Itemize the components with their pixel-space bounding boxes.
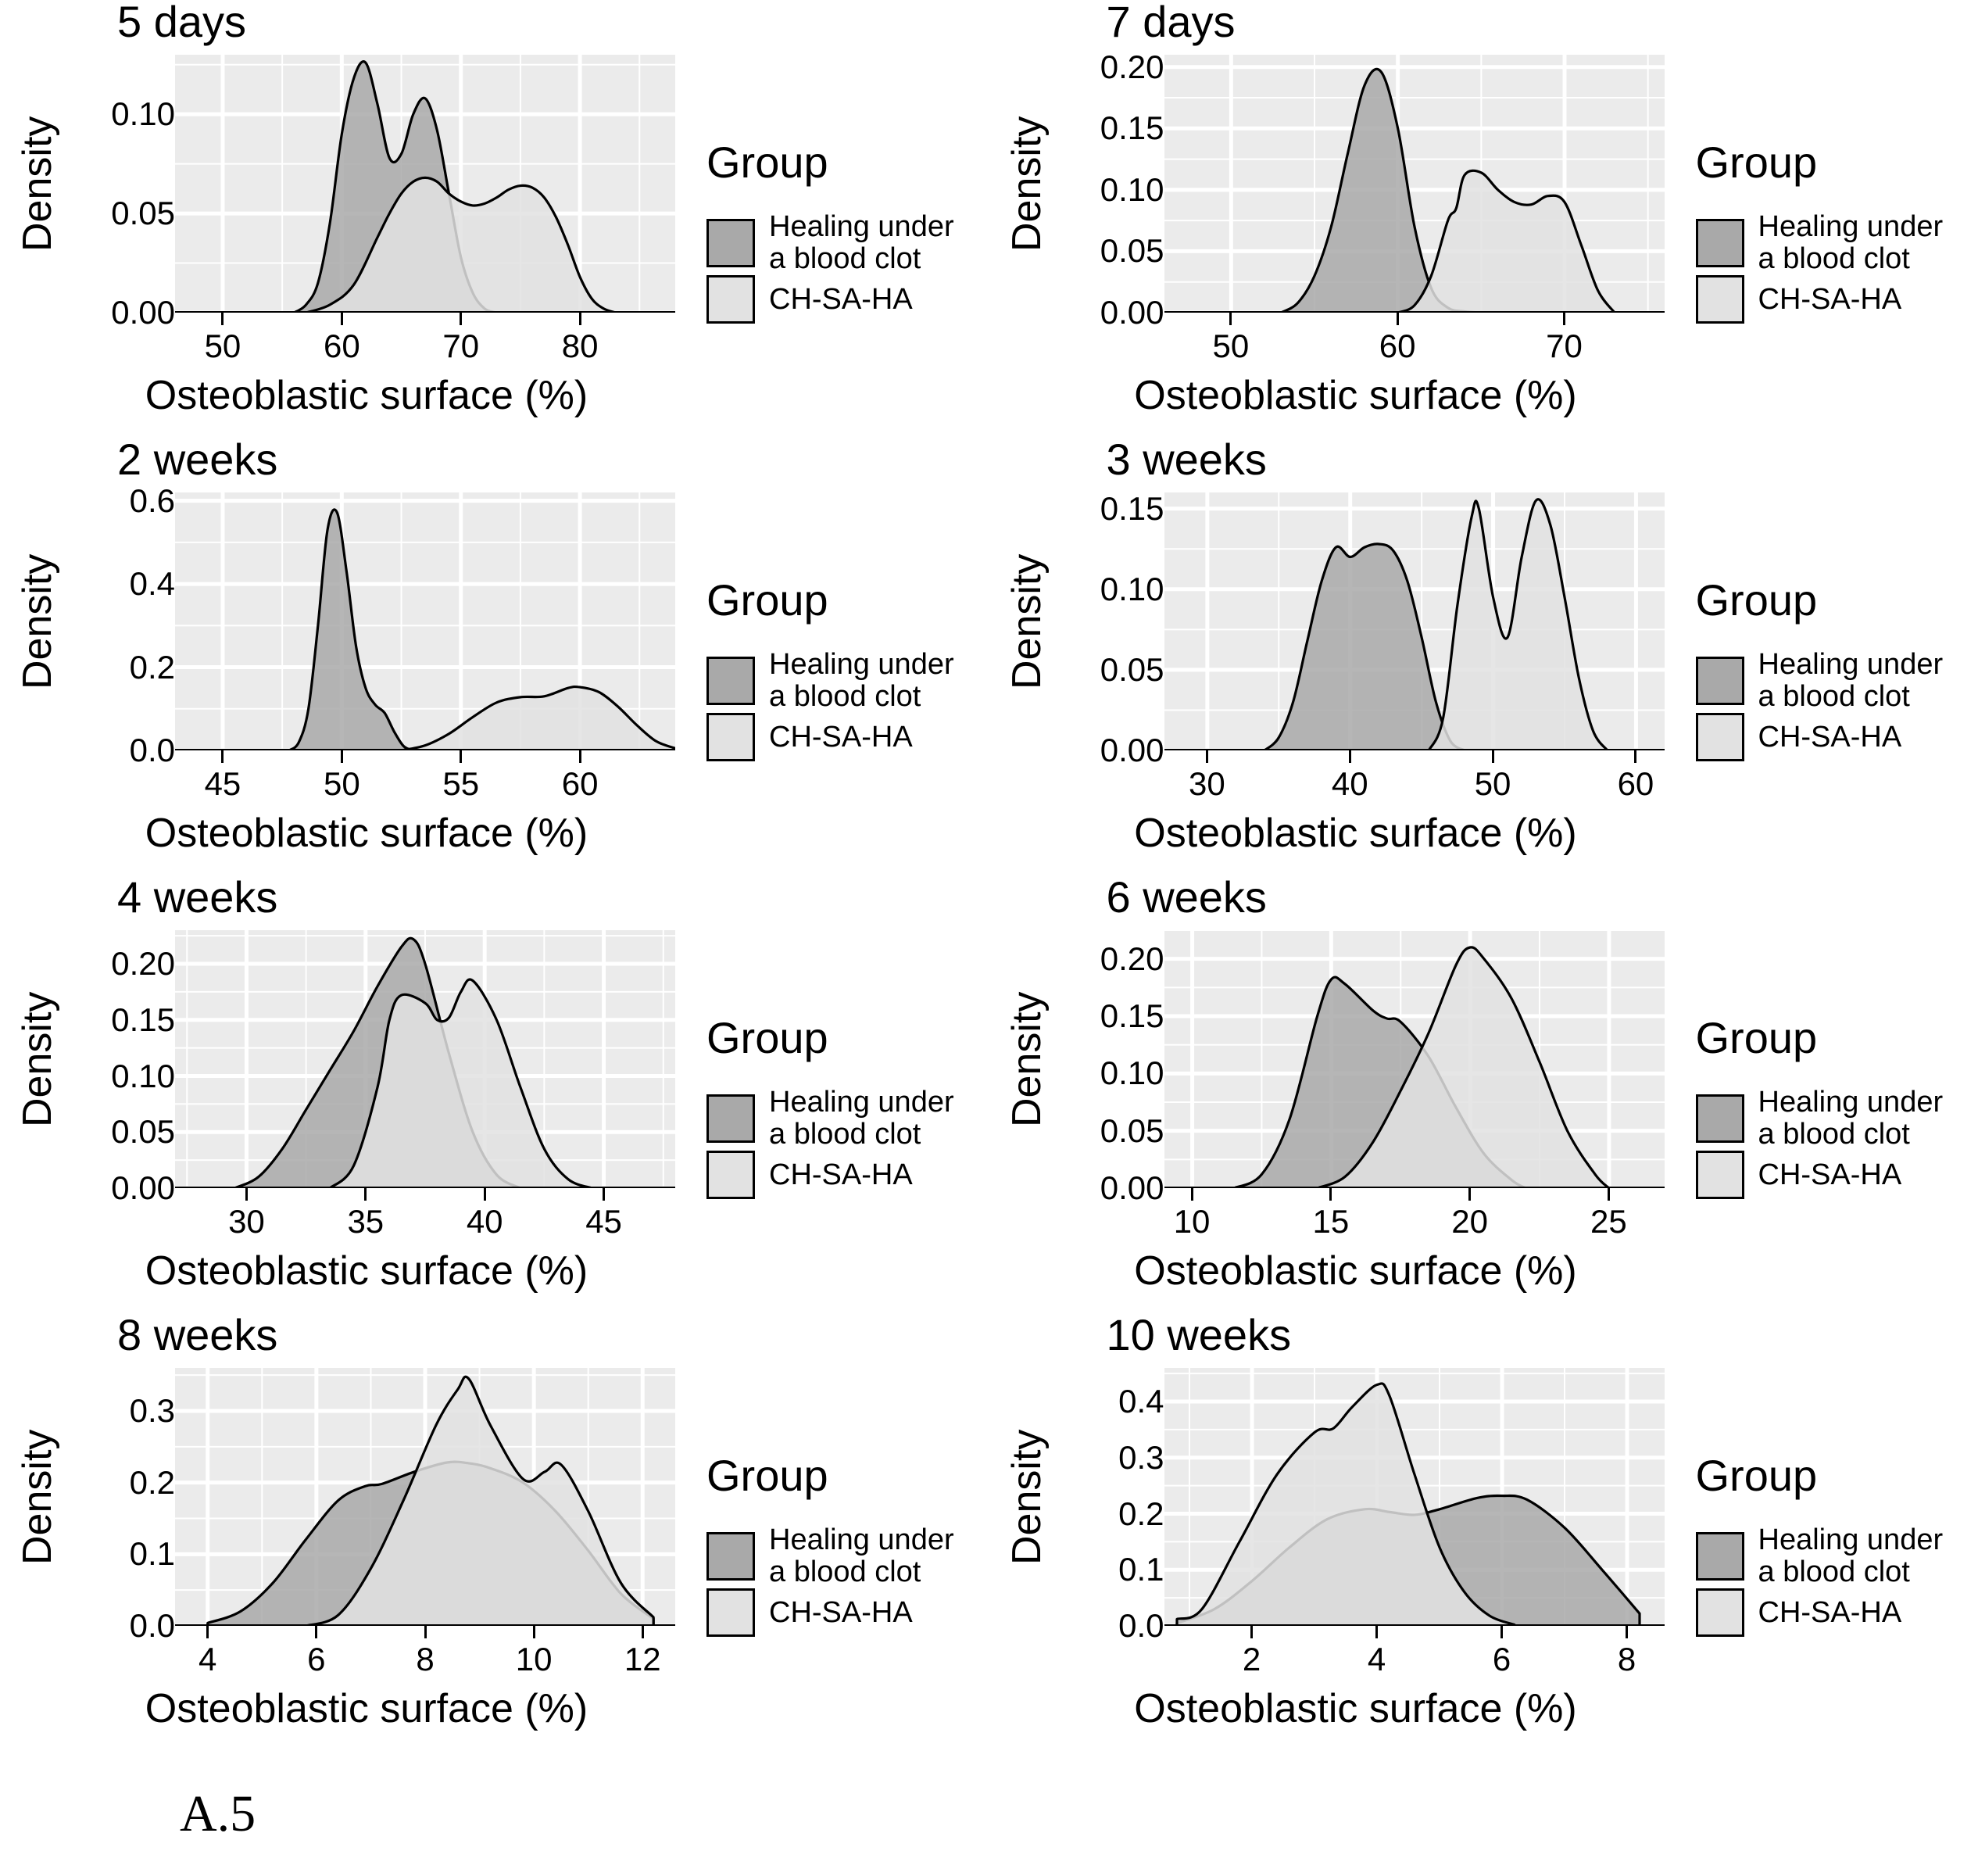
x-tick-mark xyxy=(341,313,343,325)
legend-item-ch-sa-ha[interactable]: CH-SA-HA xyxy=(1696,713,1944,761)
density-curve-ch-sa-ha xyxy=(1429,499,1608,750)
panel-10-weeks: 10 weeksDensity0.00.10.20.30.42468Osteob… xyxy=(989,1313,1978,1751)
x-axis-ticks xyxy=(175,1188,675,1204)
x-tick-label: 45 xyxy=(205,768,241,800)
density-curve-blood-clot xyxy=(289,510,413,750)
legend-item-blood-clot[interactable]: Healing under a blood clot xyxy=(706,211,954,275)
plot-area xyxy=(1164,930,1665,1188)
legend-item-ch-sa-ha[interactable]: CH-SA-HA xyxy=(1696,1588,1944,1637)
y-tick-label: 0.0 xyxy=(130,1609,175,1642)
x-tick-mark xyxy=(1634,750,1636,763)
legend-item-label: Healing under a blood clot xyxy=(769,1524,954,1588)
x-tick-mark xyxy=(1229,313,1232,325)
y-tick-text: 0.6 xyxy=(130,485,175,517)
x-tick-label: 80 xyxy=(562,330,599,363)
y-axis-label: Density xyxy=(1007,492,1047,750)
x-axis-tick-labels: 4681012 xyxy=(175,1641,675,1687)
y-tick-text: 0.00 xyxy=(111,1172,175,1205)
legend-swatch-icon xyxy=(706,657,755,705)
x-tick-label: 55 xyxy=(442,768,479,800)
x-tick-mark xyxy=(579,313,581,325)
y-axis-label: Density xyxy=(17,1368,58,1626)
x-tick-label: 30 xyxy=(228,1205,265,1238)
y-tick-text: 0.05 xyxy=(1100,653,1164,686)
legend-swatch-icon xyxy=(1696,275,1744,324)
x-axis-ticks xyxy=(175,750,675,766)
y-axis-ticks: 0.000.050.100.15 xyxy=(1047,492,1164,750)
x-tick-label: 8 xyxy=(416,1643,434,1676)
y-axis-label: Density xyxy=(1007,930,1047,1188)
y-tick-label: 0.05 xyxy=(111,197,175,230)
x-axis-ticks xyxy=(1164,1188,1665,1204)
x-axis-label: Osteoblastic surface (%) xyxy=(58,1688,675,1729)
plot-area xyxy=(1164,55,1665,313)
legend-swatch-icon xyxy=(1696,219,1744,267)
y-tick-text: 0.4 xyxy=(1118,1385,1164,1418)
y-axis-label: Density xyxy=(17,930,58,1188)
y-tick-label: 0.6 xyxy=(130,485,175,517)
legend-item-blood-clot[interactable]: Healing under a blood clot xyxy=(1696,211,1944,275)
y-tick-label: 0.2 xyxy=(130,651,175,684)
y-tick-text: 0.05 xyxy=(111,197,175,230)
legend-item-ch-sa-ha[interactable]: CH-SA-HA xyxy=(706,713,954,761)
x-tick-mark xyxy=(1608,1188,1610,1201)
legend: GroupHealing under a blood clotCH-SA-HA xyxy=(1696,930,1944,1199)
y-tick-text: 0.15 xyxy=(1100,1000,1164,1033)
density-curve-ch-sa-ha xyxy=(402,687,675,750)
legend-item-label: Healing under a blood clot xyxy=(1758,649,1944,713)
x-tick-label: 60 xyxy=(1618,768,1654,800)
panel-title: 6 weeks xyxy=(1107,875,1978,919)
y-tick-label: 0.00 xyxy=(111,296,175,329)
legend-swatch-icon xyxy=(1696,1094,1744,1143)
x-axis-tick-labels: 50607080 xyxy=(175,328,675,374)
x-tick-label: 10 xyxy=(1174,1205,1211,1238)
x-axis-tick-labels: 10152025 xyxy=(1164,1204,1665,1249)
y-tick-label: 0.4 xyxy=(130,567,175,600)
x-tick-mark xyxy=(1500,1626,1503,1638)
x-tick-label: 20 xyxy=(1451,1205,1488,1238)
x-tick-mark xyxy=(642,1626,644,1638)
y-tick-label: 0.05 xyxy=(1100,653,1164,686)
y-tick-text: 0.0 xyxy=(1118,1609,1164,1642)
y-tick-label: 0.00 xyxy=(1100,734,1164,767)
x-tick-mark xyxy=(1468,1188,1471,1201)
figure-caption: A.5 xyxy=(180,1788,256,1840)
legend-title: Group xyxy=(706,578,954,622)
y-tick-label: 0.3 xyxy=(130,1394,175,1427)
legend-item-label: CH-SA-HA xyxy=(769,284,913,316)
y-tick-text: 0.15 xyxy=(111,1004,175,1036)
x-tick-label: 50 xyxy=(205,330,241,363)
legend-swatch-icon xyxy=(1696,1532,1744,1581)
y-axis-label: Density xyxy=(1007,1368,1047,1626)
legend-item-label: Healing under a blood clot xyxy=(1758,1524,1944,1588)
x-tick-mark xyxy=(364,1188,367,1201)
legend-item-label: CH-SA-HA xyxy=(1758,1159,1902,1191)
legend: GroupHealing under a blood clotCH-SA-HA xyxy=(706,1368,954,1637)
legend-item-label: CH-SA-HA xyxy=(1758,284,1902,316)
y-tick-label: 0.15 xyxy=(1100,492,1164,525)
y-tick-text: 0.0 xyxy=(130,734,175,767)
x-tick-label: 35 xyxy=(347,1205,384,1238)
y-tick-label: 0.2 xyxy=(1118,1498,1164,1531)
x-axis-label: Osteoblastic surface (%) xyxy=(58,375,675,416)
y-tick-text: 0.20 xyxy=(111,947,175,980)
x-axis-tick-labels: 506070 xyxy=(1164,328,1665,374)
x-tick-mark xyxy=(603,1188,605,1201)
y-tick-text: 0.0 xyxy=(130,1609,175,1642)
x-tick-mark xyxy=(221,313,224,325)
x-axis-label: Osteoblastic surface (%) xyxy=(1047,375,1665,416)
x-axis-label: Osteoblastic surface (%) xyxy=(58,1251,675,1291)
x-axis-label: Osteoblastic surface (%) xyxy=(58,813,675,854)
y-tick-label: 0.15 xyxy=(1100,112,1164,145)
y-axis-ticks: 0.000.050.100.150.20 xyxy=(1047,55,1164,313)
y-tick-label: 0.0 xyxy=(1118,1609,1164,1642)
y-axis-label: Density xyxy=(17,55,58,313)
panel-title: 8 weeks xyxy=(117,1313,989,1357)
panel-title: 5 days xyxy=(117,0,989,44)
legend-title: Group xyxy=(1696,1454,1944,1498)
x-tick-mark xyxy=(579,750,581,763)
x-tick-mark xyxy=(424,1626,427,1638)
y-tick-text: 0.05 xyxy=(1100,234,1164,267)
x-tick-mark xyxy=(1626,1626,1628,1638)
y-tick-text: 0.2 xyxy=(130,1466,175,1499)
panel-title: 7 days xyxy=(1107,0,1978,44)
panel-4-weeks: 4 weeksDensity0.000.050.100.150.20303540… xyxy=(0,875,989,1313)
y-tick-text: 0.10 xyxy=(1100,573,1164,606)
y-tick-text: 0.1 xyxy=(1118,1553,1164,1586)
x-tick-label: 4 xyxy=(199,1643,216,1676)
y-axis-ticks: 0.000.050.100.150.20 xyxy=(1047,930,1164,1188)
y-tick-text: 0.00 xyxy=(1100,734,1164,767)
legend: GroupHealing under a blood clotCH-SA-HA xyxy=(1696,492,1944,761)
x-tick-mark xyxy=(1191,1188,1193,1201)
x-tick-mark xyxy=(1563,313,1565,325)
x-tick-mark xyxy=(315,1626,317,1638)
y-axis-ticks: 0.000.050.100.150.20 xyxy=(58,930,175,1188)
y-tick-label: 0.20 xyxy=(1100,51,1164,84)
x-tick-label: 40 xyxy=(1332,768,1368,800)
y-tick-label: 0.00 xyxy=(1100,296,1164,329)
plot-area xyxy=(175,930,675,1188)
x-tick-label: 60 xyxy=(562,768,599,800)
y-tick-text: 0.10 xyxy=(1100,174,1164,206)
y-tick-text: 0.20 xyxy=(1100,51,1164,84)
legend-item-blood-clot[interactable]: Healing under a blood clot xyxy=(706,1087,954,1151)
y-tick-text: 0.00 xyxy=(111,296,175,329)
y-tick-label: 0.10 xyxy=(1100,174,1164,206)
plot-area xyxy=(1164,492,1665,750)
x-tick-label: 8 xyxy=(1618,1643,1636,1676)
x-axis-label: Osteoblastic surface (%) xyxy=(1047,1688,1665,1729)
plot-area xyxy=(175,55,675,313)
legend-swatch-icon xyxy=(706,1094,755,1143)
x-axis-ticks xyxy=(1164,1626,1665,1641)
legend-swatch-icon xyxy=(706,1588,755,1637)
x-tick-label: 50 xyxy=(1212,330,1249,363)
y-tick-label: 0.2 xyxy=(130,1466,175,1499)
x-tick-mark xyxy=(1375,1626,1378,1638)
x-tick-mark xyxy=(1250,1626,1253,1638)
legend: GroupHealing under a blood clotCH-SA-HA xyxy=(1696,1368,1944,1637)
y-tick-text: 0.4 xyxy=(130,567,175,600)
y-tick-text: 0.10 xyxy=(111,1060,175,1093)
density-plot-grid: 5 daysDensity0.000.050.1050607080Osteobl… xyxy=(0,0,1978,1751)
legend-swatch-icon xyxy=(1696,713,1744,761)
x-tick-mark xyxy=(1329,1188,1332,1201)
y-tick-label: 0.05 xyxy=(111,1115,175,1148)
legend-title: Group xyxy=(1696,141,1944,184)
legend-item-label: CH-SA-HA xyxy=(769,1597,913,1629)
y-tick-text: 0.15 xyxy=(1100,492,1164,525)
panel-5-days: 5 daysDensity0.000.050.1050607080Osteobl… xyxy=(0,0,989,438)
y-tick-text: 0.00 xyxy=(1100,1172,1164,1205)
legend-title: Group xyxy=(1696,1016,1944,1060)
legend-item-label: Healing under a blood clot xyxy=(1758,1087,1944,1151)
legend-swatch-icon xyxy=(1696,1588,1744,1637)
legend: GroupHealing under a blood clotCH-SA-HA xyxy=(1696,55,1944,324)
y-tick-label: 0.1 xyxy=(130,1538,175,1570)
density-curve-ch-sa-ha xyxy=(1397,170,1614,313)
y-tick-label: 0.10 xyxy=(111,1060,175,1093)
y-tick-label: 0.15 xyxy=(111,1004,175,1036)
x-tick-mark xyxy=(206,1626,209,1638)
legend-title: Group xyxy=(1696,578,1944,622)
legend-swatch-icon xyxy=(1696,1151,1744,1199)
y-axis-ticks: 0.000.050.10 xyxy=(58,55,175,313)
x-axis-tick-labels: 30354045 xyxy=(175,1204,675,1249)
y-tick-label: 0.00 xyxy=(1100,1172,1164,1205)
y-tick-text: 0.3 xyxy=(130,1394,175,1427)
x-axis-ticks xyxy=(1164,313,1665,328)
y-tick-text: 0.00 xyxy=(1100,296,1164,329)
x-axis-tick-labels: 30405060 xyxy=(1164,766,1665,811)
x-tick-mark xyxy=(484,1188,486,1201)
legend-swatch-icon xyxy=(706,1151,755,1199)
y-tick-text: 0.3 xyxy=(1118,1441,1164,1474)
x-tick-mark xyxy=(1206,750,1208,763)
x-axis-tick-labels: 45505560 xyxy=(175,766,675,811)
panel-title: 2 weeks xyxy=(117,438,989,482)
legend-swatch-icon xyxy=(1696,657,1744,705)
panel-title: 10 weeks xyxy=(1107,1313,1978,1357)
y-tick-label: 0.05 xyxy=(1100,234,1164,267)
y-tick-label: 0.20 xyxy=(111,947,175,980)
y-tick-label: 0.15 xyxy=(1100,1000,1164,1033)
y-tick-text: 0.20 xyxy=(1100,943,1164,976)
x-tick-label: 40 xyxy=(467,1205,503,1238)
panel-6-weeks: 6 weeksDensity0.000.050.100.150.20101520… xyxy=(989,875,1978,1313)
x-tick-mark xyxy=(341,750,343,763)
x-tick-label: 45 xyxy=(585,1205,622,1238)
legend-item-label: CH-SA-HA xyxy=(1758,721,1902,754)
y-tick-label: 0.4 xyxy=(1118,1385,1164,1418)
x-tick-label: 6 xyxy=(307,1643,325,1676)
legend: GroupHealing under a blood clotCH-SA-HA xyxy=(706,930,954,1199)
y-tick-label: 0.1 xyxy=(1118,1553,1164,1586)
panel-8-weeks: 8 weeksDensity0.00.10.20.34681012Osteobl… xyxy=(0,1313,989,1751)
legend-item-label: Healing under a blood clot xyxy=(769,211,954,275)
legend-item-label: CH-SA-HA xyxy=(769,1159,913,1191)
y-tick-label: 0.10 xyxy=(111,98,175,131)
x-tick-mark xyxy=(460,750,462,763)
y-axis-label: Density xyxy=(17,492,58,750)
legend-title: Group xyxy=(706,1016,954,1060)
y-axis-label: Density xyxy=(1007,55,1047,313)
legend-item-ch-sa-ha[interactable]: CH-SA-HA xyxy=(706,275,954,324)
plot-area xyxy=(1164,1368,1665,1626)
x-tick-label: 50 xyxy=(324,768,360,800)
legend: GroupHealing under a blood clotCH-SA-HA xyxy=(706,55,954,324)
legend-swatch-icon xyxy=(706,713,755,761)
density-curve-blood-clot xyxy=(1264,544,1465,750)
legend-swatch-icon xyxy=(706,1532,755,1581)
plot-area xyxy=(175,1368,675,1626)
y-tick-label: 0.00 xyxy=(111,1172,175,1205)
legend-swatch-icon xyxy=(706,275,755,324)
x-tick-label: 70 xyxy=(1546,330,1583,363)
legend-item-ch-sa-ha[interactable]: CH-SA-HA xyxy=(1696,275,1944,324)
x-tick-label: 2 xyxy=(1243,1643,1261,1676)
x-tick-label: 30 xyxy=(1189,768,1225,800)
panel-title: 4 weeks xyxy=(117,875,989,919)
y-tick-label: 0.05 xyxy=(1100,1115,1164,1147)
panel-3-weeks: 3 weeksDensity0.000.050.100.1530405060Os… xyxy=(989,438,1978,875)
legend-item-ch-sa-ha[interactable]: CH-SA-HA xyxy=(706,1588,954,1637)
x-tick-label: 15 xyxy=(1312,1205,1349,1238)
plot-area xyxy=(175,492,675,750)
legend-item-label: Healing under a blood clot xyxy=(769,1087,954,1151)
x-tick-label: 50 xyxy=(1475,768,1511,800)
y-tick-text: 0.05 xyxy=(111,1115,175,1148)
x-tick-label: 6 xyxy=(1493,1643,1511,1676)
y-tick-label: 0.10 xyxy=(1100,1057,1164,1090)
y-axis-ticks: 0.00.10.20.30.4 xyxy=(1047,1368,1164,1626)
x-tick-label: 12 xyxy=(624,1643,661,1676)
x-axis-ticks xyxy=(175,313,675,328)
x-axis-ticks xyxy=(175,1626,675,1641)
x-tick-mark xyxy=(1492,750,1494,763)
legend-item-ch-sa-ha[interactable]: CH-SA-HA xyxy=(1696,1151,1944,1199)
panel-7-days: 7 daysDensity0.000.050.100.150.20506070O… xyxy=(989,0,1978,438)
legend-swatch-icon xyxy=(706,219,755,267)
x-tick-label: 70 xyxy=(442,330,479,363)
x-tick-label: 60 xyxy=(1379,330,1416,363)
x-tick-label: 10 xyxy=(516,1643,553,1676)
legend-item-blood-clot[interactable]: Healing under a blood clot xyxy=(1696,649,1944,713)
x-tick-mark xyxy=(533,1626,535,1638)
y-tick-text: 0.05 xyxy=(1100,1115,1164,1147)
y-axis-ticks: 0.00.20.40.6 xyxy=(58,492,175,750)
x-tick-label: 25 xyxy=(1590,1205,1627,1238)
legend-item-blood-clot[interactable]: Healing under a blood clot xyxy=(706,1524,954,1588)
legend-item-label: CH-SA-HA xyxy=(1758,1597,1902,1629)
y-tick-label: 0.20 xyxy=(1100,943,1164,976)
x-tick-mark xyxy=(460,313,462,325)
legend-title: Group xyxy=(706,1454,954,1498)
y-tick-text: 0.2 xyxy=(1118,1498,1164,1531)
panel-2-weeks: 2 weeksDensity0.00.20.40.645505560Osteob… xyxy=(0,438,989,875)
x-axis-ticks xyxy=(1164,750,1665,766)
legend-item-blood-clot[interactable]: Healing under a blood clot xyxy=(706,649,954,713)
y-tick-text: 0.2 xyxy=(130,651,175,684)
x-tick-mark xyxy=(221,750,224,763)
x-tick-label: 60 xyxy=(324,330,360,363)
legend-item-label: Healing under a blood clot xyxy=(769,649,954,713)
legend-item-ch-sa-ha[interactable]: CH-SA-HA xyxy=(706,1151,954,1199)
panel-title: 3 weeks xyxy=(1107,438,1978,482)
y-axis-ticks: 0.00.10.20.3 xyxy=(58,1368,175,1626)
y-tick-text: 0.10 xyxy=(1100,1057,1164,1090)
x-tick-mark xyxy=(1349,750,1351,763)
legend-item-label: Healing under a blood clot xyxy=(1758,211,1944,275)
y-tick-text: 0.1 xyxy=(130,1538,175,1570)
x-tick-mark xyxy=(245,1188,248,1201)
y-tick-label: 0.0 xyxy=(130,734,175,767)
x-tick-mark xyxy=(1397,313,1399,325)
y-tick-label: 0.3 xyxy=(1118,1441,1164,1474)
x-axis-tick-labels: 2468 xyxy=(1164,1641,1665,1687)
y-tick-text: 0.15 xyxy=(1100,112,1164,145)
y-tick-label: 0.10 xyxy=(1100,573,1164,606)
legend-item-blood-clot[interactable]: Healing under a blood clot xyxy=(1696,1524,1944,1588)
x-axis-label: Osteoblastic surface (%) xyxy=(1047,813,1665,854)
y-tick-text: 0.10 xyxy=(111,98,175,131)
legend: GroupHealing under a blood clotCH-SA-HA xyxy=(706,492,954,761)
legend-title: Group xyxy=(706,141,954,184)
legend-item-label: CH-SA-HA xyxy=(769,721,913,754)
x-axis-label: Osteoblastic surface (%) xyxy=(1047,1251,1665,1291)
legend-item-blood-clot[interactable]: Healing under a blood clot xyxy=(1696,1087,1944,1151)
x-tick-label: 4 xyxy=(1368,1643,1386,1676)
